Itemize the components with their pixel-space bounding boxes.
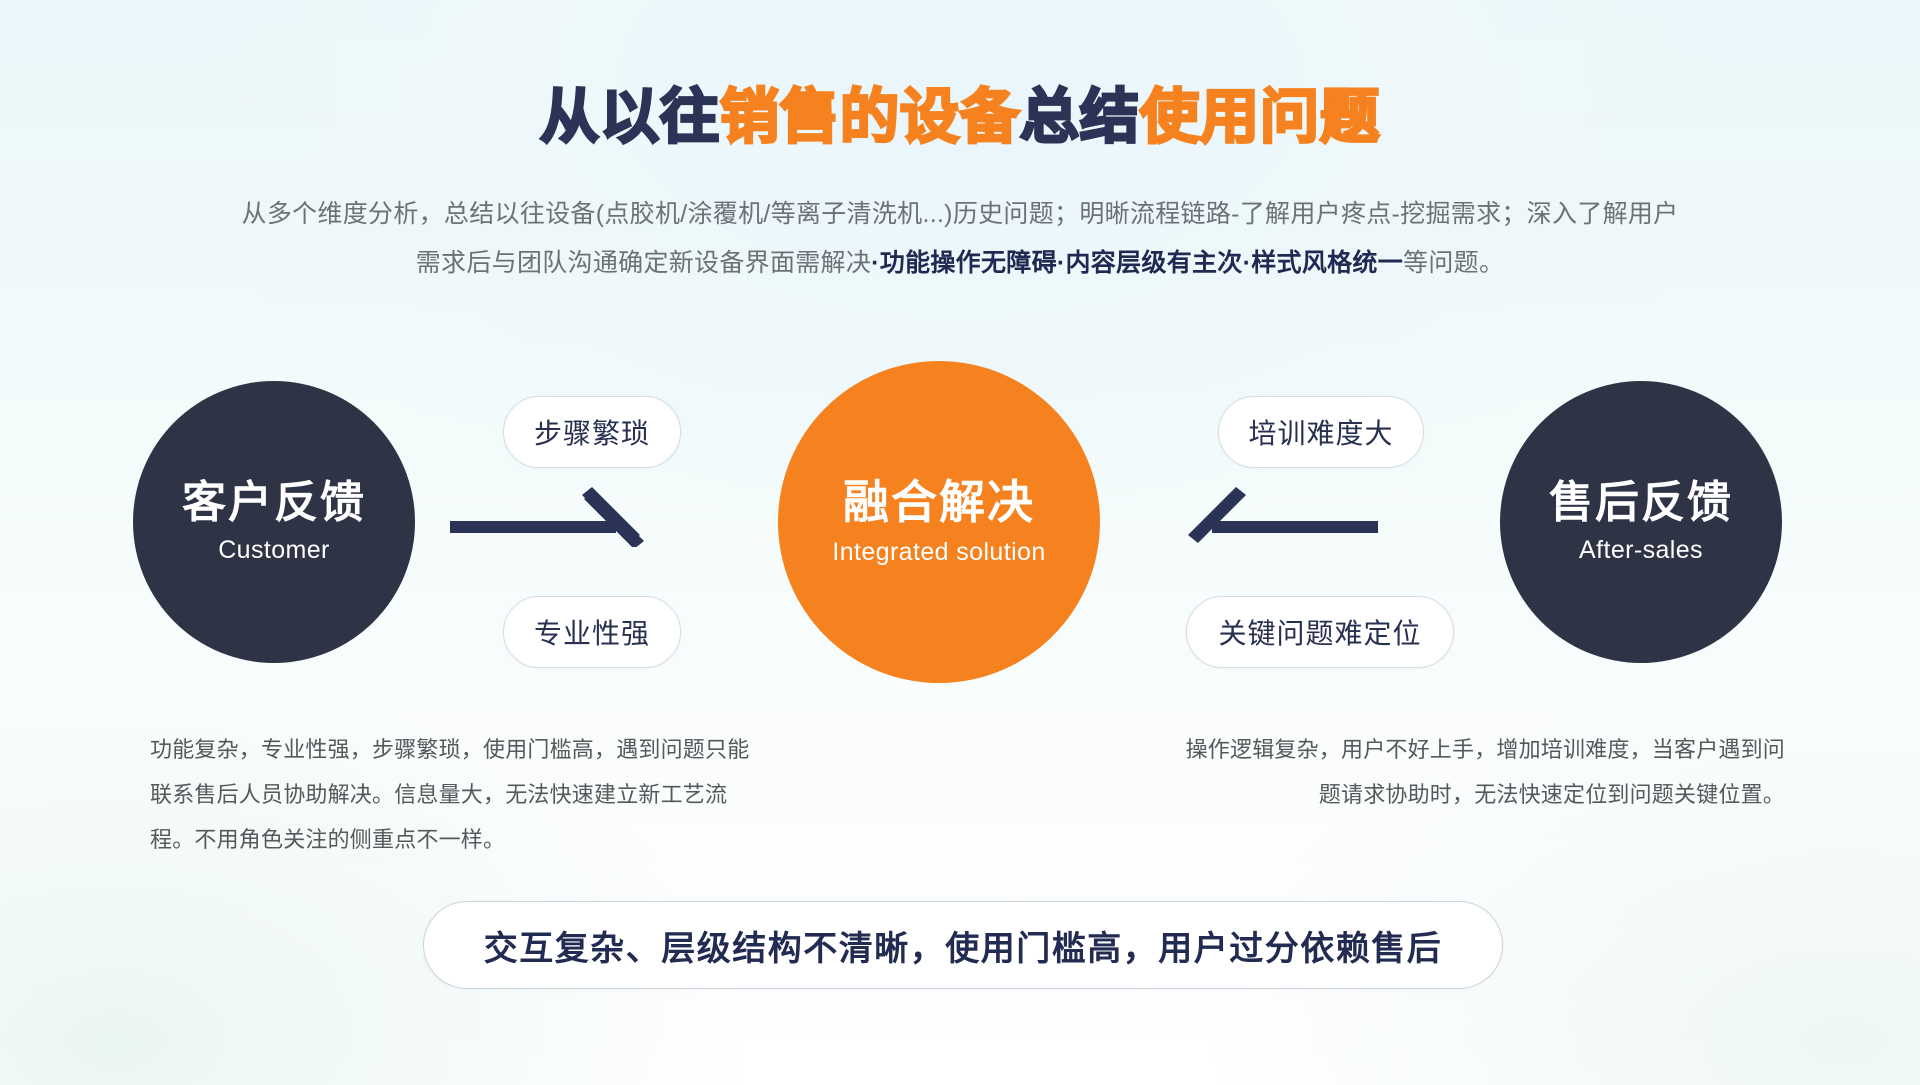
- pill-steps-complex[interactable]: 步骤繁琐: [503, 396, 681, 468]
- infographic-page: 从以往销售的设备总结使用问题 从多个维度分析，总结以往设备(点胶机/涂覆机/等离…: [0, 0, 1920, 1085]
- circle-customer-label-cn: 客户反馈: [182, 479, 366, 527]
- circle-aftersales-label-cn: 售后反馈: [1549, 479, 1733, 527]
- arrow-left-icon: [1180, 487, 1380, 547]
- pill-high-expertise[interactable]: 专业性强: [503, 596, 681, 668]
- circle-aftersales-label-en: After-sales: [1579, 536, 1703, 565]
- circle-customer-label-en: Customer: [218, 536, 330, 565]
- paragraph-customer-pain-points: 功能复杂，专业性强，步骤繁琐，使用门槛高，遇到问题只能联系售后人员协助解决。信息…: [150, 727, 750, 862]
- circle-customer[interactable]: 客户反馈 Customer: [133, 381, 415, 663]
- circle-integrated-label-cn: 融合解决: [843, 477, 1035, 528]
- paragraph-aftersales-pain-points: 操作逻辑复杂，用户不好上手，增加培训难度，当客户遇到问题请求协助时，无法快速定位…: [1180, 727, 1785, 817]
- pill-hard-to-locate[interactable]: 关键问题难定位: [1186, 596, 1454, 668]
- pill-training-difficult[interactable]: 培训难度大: [1218, 396, 1424, 468]
- circle-aftersales[interactable]: 售后反馈 After-sales: [1500, 381, 1782, 663]
- circle-integrated-solution[interactable]: 融合解决 Integrated solution: [778, 361, 1100, 683]
- circle-integrated-label-en: Integrated solution: [832, 538, 1045, 567]
- conclusion-banner: 交互复杂、层级结构不清晰，使用门槛高，用户过分依赖售后: [423, 901, 1503, 989]
- arrow-right-icon: [448, 487, 648, 547]
